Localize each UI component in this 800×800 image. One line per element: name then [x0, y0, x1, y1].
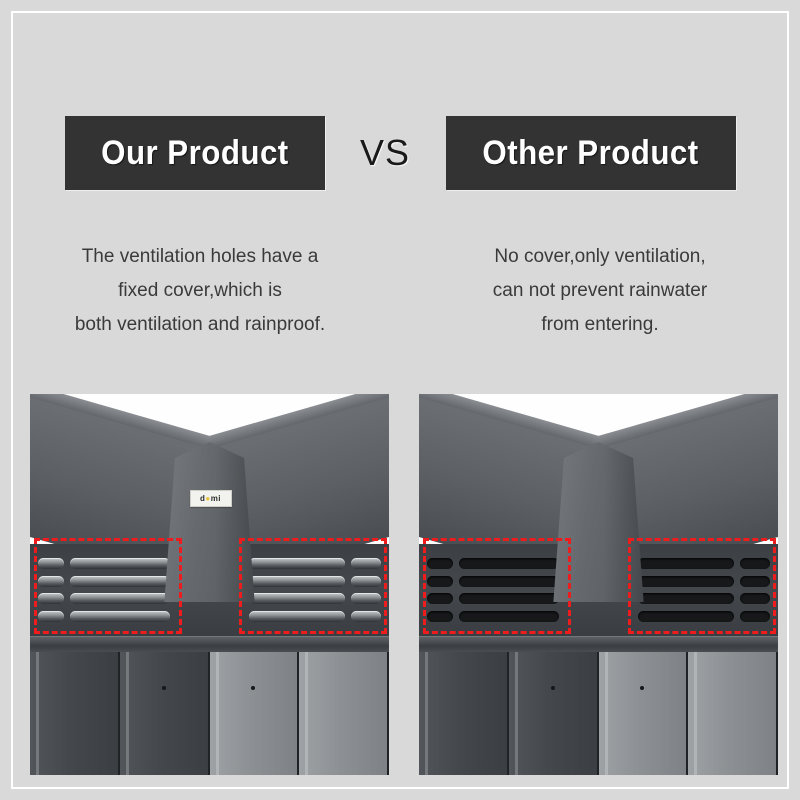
- door-handle: [640, 686, 644, 690]
- description-row: The ventilation holes have a fixed cover…: [0, 240, 800, 342]
- shed-doors: [30, 652, 389, 775]
- other-product-description: No cover,only ventilation, can not preve…: [400, 240, 800, 342]
- our-product-label: Our Product: [101, 134, 289, 173]
- shed-doors: [419, 652, 778, 775]
- highlight-box-left: [423, 538, 571, 634]
- wall-trim-band: [419, 636, 778, 652]
- other-product-photo: [419, 394, 778, 775]
- description-line: from entering.: [442, 308, 758, 342]
- photo-comparison-row: d●mi: [30, 394, 778, 775]
- highlight-box-left: [34, 538, 182, 634]
- other-product-banner: Other Product: [446, 116, 736, 190]
- description-line: No cover,only ventilation,: [442, 240, 758, 274]
- door-panel: [210, 652, 300, 775]
- other-product-label: Other Product: [482, 134, 698, 173]
- door-panel: [299, 652, 389, 775]
- description-line: The ventilation holes have a: [42, 240, 358, 274]
- our-product-banner: Our Product: [65, 116, 325, 190]
- brand-badge: d●mi: [190, 490, 232, 507]
- door-panel: [599, 652, 689, 775]
- description-line: both ventilation and rainproof.: [42, 308, 358, 342]
- door-handle: [551, 686, 555, 690]
- door-panel: [509, 652, 599, 775]
- description-line: can not prevent rainwater: [442, 274, 758, 308]
- our-product-photo: d●mi: [30, 394, 389, 775]
- door-handle: [251, 686, 255, 690]
- highlight-box-right: [239, 538, 387, 634]
- brand-badge-suffix: mi: [211, 494, 221, 503]
- door-handle: [162, 686, 166, 690]
- door-panel: [30, 652, 120, 775]
- description-line: fixed cover,which is: [42, 274, 358, 308]
- highlight-box-right: [628, 538, 776, 634]
- door-panel: [419, 652, 509, 775]
- door-panel: [688, 652, 778, 775]
- door-panel: [120, 652, 210, 775]
- vs-separator: VS: [325, 132, 446, 174]
- brand-badge-text: d●mi: [200, 495, 221, 503]
- vs-label: VS: [360, 132, 410, 174]
- wall-trim-band: [30, 636, 389, 652]
- our-product-description: The ventilation holes have a fixed cover…: [0, 240, 400, 342]
- comparison-header: Our Product VS Other Product: [0, 116, 800, 190]
